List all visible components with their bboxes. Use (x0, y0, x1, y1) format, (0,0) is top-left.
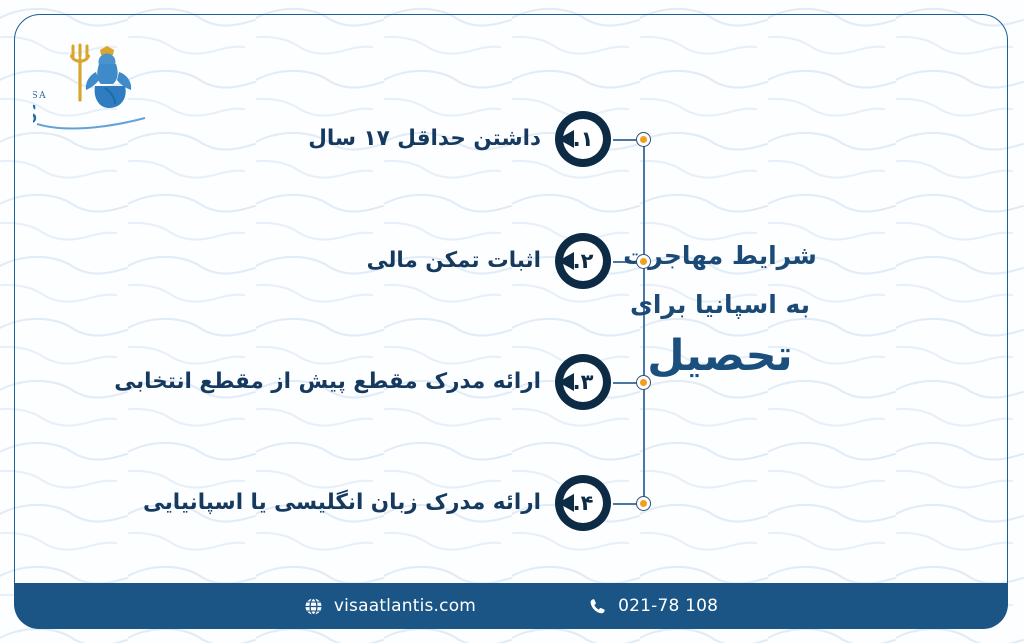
step-label-1: داشتن حداقل ۱۷ سال (308, 124, 541, 153)
infographic-canvas: VISA ATLANTIS شرایط مهاجرت به اسپانیا بر… (0, 0, 1024, 643)
step-row-1[interactable]: ۱. داشتن حداقل ۱۷ سال (308, 111, 611, 167)
step-marker-1: ۱. (555, 111, 611, 167)
phone-icon (588, 597, 607, 616)
brand-logo: VISA ATLANTIS (33, 28, 155, 132)
timeline-node-2[interactable] (636, 254, 651, 269)
footer-website-text: visaatlantis.com (334, 596, 476, 616)
step-row-4[interactable]: ۴. ارائه مدرک زبان انگلیسی یا اسپانیایی (143, 475, 611, 531)
footer-bar: visaatlantis.com 021-78 108 (14, 583, 1008, 629)
step-marker-2: ۲. (555, 233, 611, 289)
poseidon-figure (86, 46, 131, 108)
step-marker-3: ۳. (555, 354, 611, 410)
title-emphasis: تحصیل (600, 335, 840, 378)
footer-phone[interactable]: 021-78 108 (588, 596, 718, 616)
step-marker-4: ۴. (555, 475, 611, 531)
step-label-2: اثبات تمکن مالی (367, 246, 541, 275)
footer-website[interactable]: visaatlantis.com (304, 596, 476, 616)
footer-phone-text: 021-78 108 (618, 596, 718, 616)
step-marker-pointer-2 (558, 252, 574, 270)
step-marker-pointer-1 (558, 130, 574, 148)
globe-icon (304, 597, 323, 616)
title-line-2: به اسپانیا برای (600, 292, 840, 317)
step-marker-pointer-4 (558, 494, 574, 512)
timeline-node-1[interactable] (636, 132, 651, 147)
timeline-node-3[interactable] (636, 375, 651, 390)
step-marker-pointer-3 (558, 373, 574, 391)
timeline-node-4[interactable] (636, 496, 651, 511)
step-label-3: ارائه مدرک مقطع پیش از مقطع انتخابی (114, 367, 541, 396)
step-row-3[interactable]: ۳. ارائه مدرک مقطع پیش از مقطع انتخابی (114, 354, 611, 410)
step-label-4: ارائه مدرک زبان انگلیسی یا اسپانیایی (143, 488, 541, 517)
step-row-2[interactable]: ۲. اثبات تمکن مالی (367, 233, 611, 289)
trident-icon (72, 45, 89, 100)
